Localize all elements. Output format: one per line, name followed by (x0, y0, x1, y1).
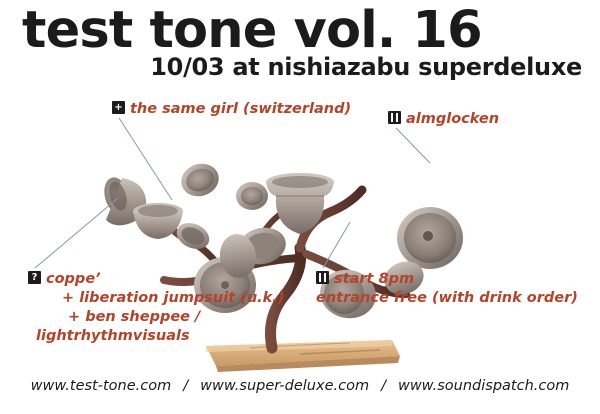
footer-separator: / (369, 378, 398, 394)
label-coppe-line1: coppe’ (46, 271, 101, 287)
label-start-time: |start 8pm entrance free (with drink ord… (316, 270, 578, 308)
footer-separator: / (171, 378, 200, 394)
cowbell (236, 182, 268, 210)
footer-links: www.test-tone.com/www.super-deluxe.com/w… (0, 378, 600, 394)
bars-box-icon: | (316, 271, 329, 284)
cowbell (177, 159, 223, 201)
label-coppe-line3: + ben sheppee / (28, 308, 284, 327)
footer-link-super-deluxe[interactable]: www.super-deluxe.com (200, 378, 369, 394)
page-subtitle: 10/03 at nishiazabu superdeluxe (150, 54, 582, 80)
label-coppe-line2: + liberation jumpsuit (u.k.) (28, 289, 284, 308)
plus-box-icon: + (112, 101, 125, 114)
label-start-line2: entrance free (with drink order) (316, 289, 578, 308)
label-the-same-girl: +the same girl (switzerland) (112, 100, 351, 119)
label-coppe-line4: lightrhythmvisuals (28, 327, 284, 346)
bars-box-icon: | (388, 111, 401, 124)
label-almglocken-text: almglocken (406, 111, 499, 127)
label-the-same-girl-text: the same girl (switzerland) (130, 101, 351, 117)
page-title: test tone vol. 16 (22, 6, 482, 56)
label-start-line1: start 8pm (334, 271, 414, 287)
cowbell (397, 207, 463, 269)
poster: test tone vol. 16 10/03 at nishiazabu su… (0, 0, 600, 414)
label-almglocken: |almglocken (388, 110, 499, 129)
footer-link-soundispatch[interactable]: www.soundispatch.com (398, 378, 569, 394)
poster-header: test tone vol. 16 10/03 at nishiazabu su… (0, 0, 600, 86)
footer-link-test-tone[interactable]: www.test-tone.com (31, 378, 172, 394)
cowbell (266, 173, 334, 234)
question-box-icon: ? (28, 271, 41, 284)
label-coppe: ?coppe’ + liberation jumpsuit (u.k.) + b… (28, 270, 284, 346)
